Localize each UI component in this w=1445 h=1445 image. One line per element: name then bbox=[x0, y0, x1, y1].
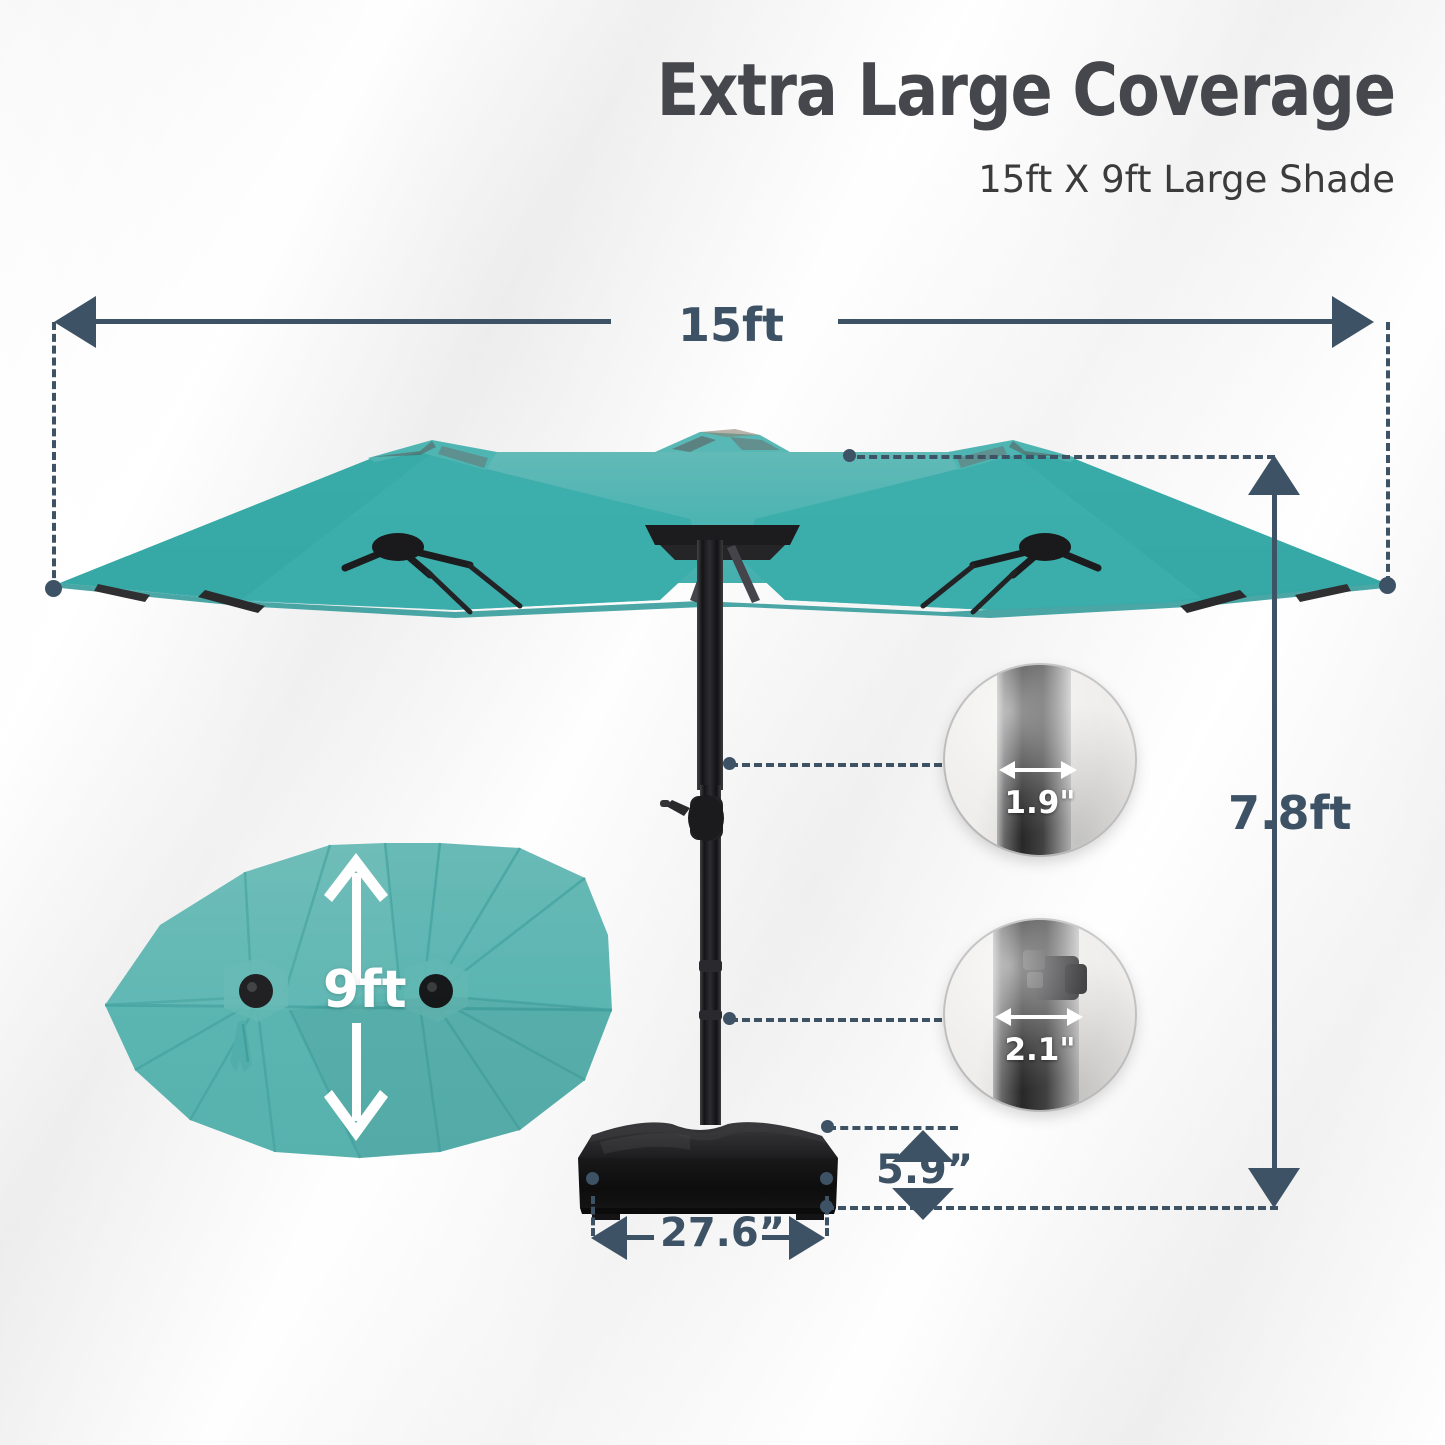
extension-line-left bbox=[52, 322, 56, 590]
leader-line-callout-2 bbox=[730, 1018, 942, 1022]
arrow-down-78ft bbox=[1248, 1168, 1300, 1208]
anchor-dot-callout-1 bbox=[723, 757, 736, 770]
magnifier-lower-pole[interactable]: 2.1" bbox=[945, 920, 1135, 1110]
umbrella-pole bbox=[660, 540, 724, 1125]
callout-arrow-2 bbox=[945, 1004, 1135, 1030]
arrow-left-15ft bbox=[54, 296, 96, 348]
anchor-dot-base-right-upper bbox=[820, 1172, 833, 1185]
umbrella-base bbox=[578, 1122, 838, 1220]
callout-arrow-1 bbox=[945, 757, 1135, 783]
leader-line-callout-1 bbox=[730, 763, 942, 767]
extension-line-right bbox=[1386, 322, 1390, 584]
extension-base-right bbox=[825, 1196, 829, 1236]
leader-line-top-78ft bbox=[845, 455, 1275, 459]
anchor-dot-callout-2 bbox=[723, 1012, 736, 1025]
magnifier-upper-pole[interactable]: 1.9" bbox=[945, 665, 1135, 855]
anchor-dot-canopy-top bbox=[843, 449, 856, 462]
anchor-dot-right bbox=[1379, 577, 1396, 594]
arrow-right-15ft bbox=[1332, 296, 1374, 348]
arrow-left-base-width bbox=[591, 1216, 627, 1260]
callout-label-1: 1.9" bbox=[945, 785, 1135, 821]
dimension-label-height: 7.8ft bbox=[1228, 786, 1352, 840]
arrow-up-78ft bbox=[1248, 455, 1300, 495]
anchor-dot-left bbox=[45, 580, 62, 597]
dimension-label-base-height: 5.9” bbox=[876, 1147, 973, 1193]
dimension-label-canopy-depth: 9ft bbox=[323, 960, 407, 1020]
anchor-dot-base-top bbox=[821, 1120, 834, 1133]
anchor-dot-base-left bbox=[586, 1172, 599, 1185]
dimension-label-base-width: 27.6” bbox=[660, 1210, 785, 1256]
callout-label-2: 2.1" bbox=[945, 1032, 1135, 1068]
dimension-label-width: 15ft bbox=[678, 298, 784, 352]
dimline-right-15ft bbox=[838, 319, 1334, 324]
dimline-left-15ft bbox=[96, 319, 611, 324]
dimline-base-left bbox=[627, 1235, 654, 1240]
arrow-right-base-width bbox=[789, 1216, 825, 1260]
